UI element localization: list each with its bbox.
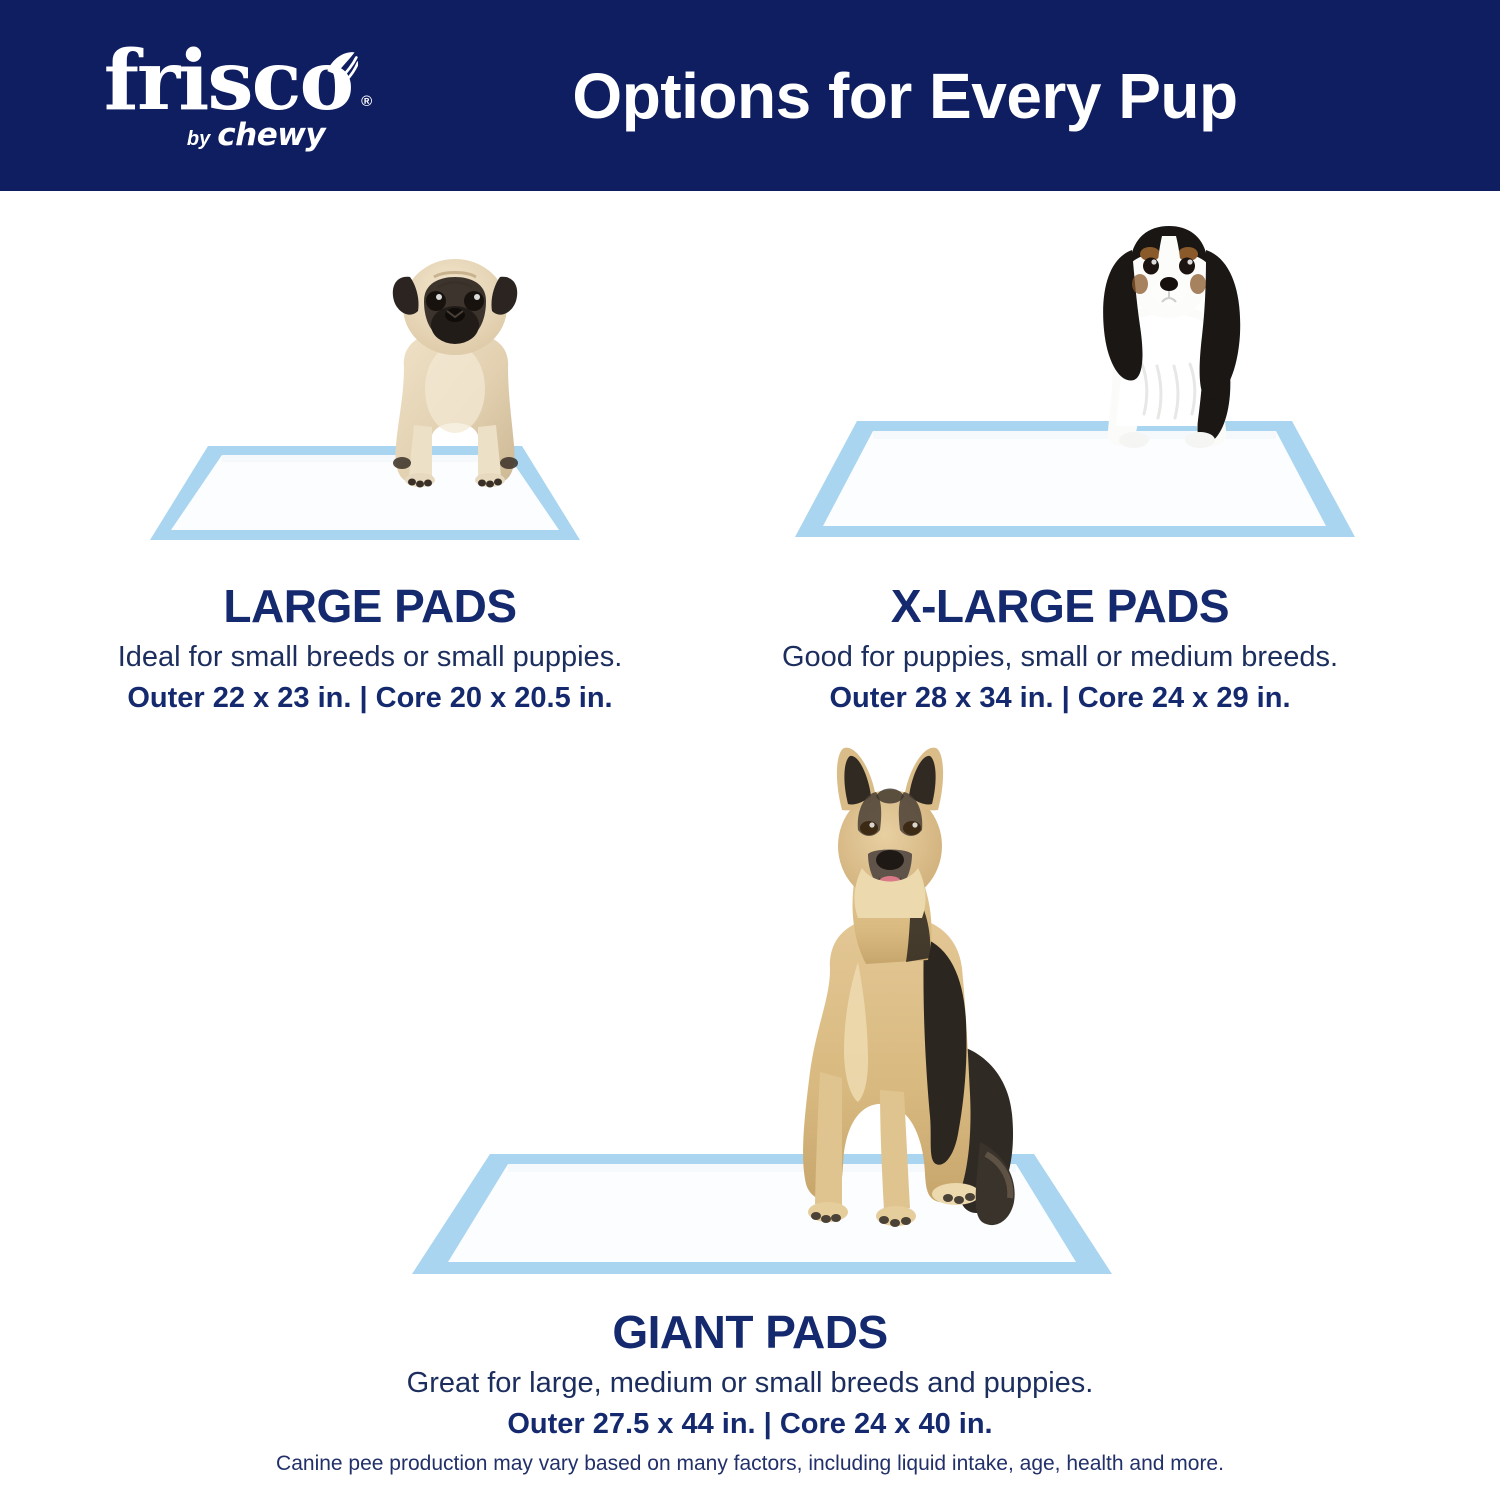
logo-by-label: by: [187, 128, 210, 151]
giant-pads-title: GIANT PADS: [250, 1308, 1250, 1356]
large-pads-description: Ideal for small breeds or small puppies.: [40, 640, 700, 675]
giant-pads-description: Great for large, medium or small breeds …: [250, 1366, 1250, 1401]
cavalier-spaniel-dog-photo: [1062, 214, 1284, 452]
german-shepherd-dog-photo: [772, 742, 1072, 1262]
frisco-wordmark-text: frisco: [104, 33, 352, 129]
infographic-page: frisco ® by chewy Options for Every Pup: [0, 0, 1500, 1500]
xlarge-pads-title: X-LARGE PADS: [710, 582, 1410, 630]
swoosh-ear-icon: [324, 49, 358, 83]
header-bar: frisco ® by chewy Options for Every Pup: [0, 0, 1500, 191]
large-pads-text-block: LARGE PADS Ideal for small breeds or sma…: [40, 582, 700, 716]
xlarge-pads-text-block: X-LARGE PADS Good for puppies, small or …: [710, 582, 1410, 716]
page-title: Options for Every Pup: [400, 0, 1500, 191]
registered-trademark-icon: ®: [361, 95, 370, 109]
large-pads-dimensions: Outer 22 x 23 in. | Core 20 x 20.5 in.: [40, 681, 700, 716]
xlarge-pads-description: Good for puppies, small or medium breeds…: [710, 640, 1410, 675]
by-chewy-lockup: by chewy: [187, 117, 325, 153]
frisco-by-chewy-logo: frisco ® by chewy: [78, 38, 378, 158]
frisco-wordmark: frisco ®: [104, 43, 352, 121]
disclaimer-footnote: Canine pee production may vary based on …: [0, 1452, 1500, 1476]
giant-pads-text-block: GIANT PADS Great for large, medium or sm…: [250, 1308, 1250, 1442]
giant-pads-dimensions: Outer 27.5 x 44 in. | Core 24 x 40 in.: [250, 1407, 1250, 1442]
xlarge-pads-dimensions: Outer 28 x 34 in. | Core 24 x 29 in.: [710, 681, 1410, 716]
chewy-wordmark: chewy: [217, 117, 325, 153]
pug-dog-photo: [362, 249, 548, 492]
large-pads-title: LARGE PADS: [40, 582, 700, 630]
